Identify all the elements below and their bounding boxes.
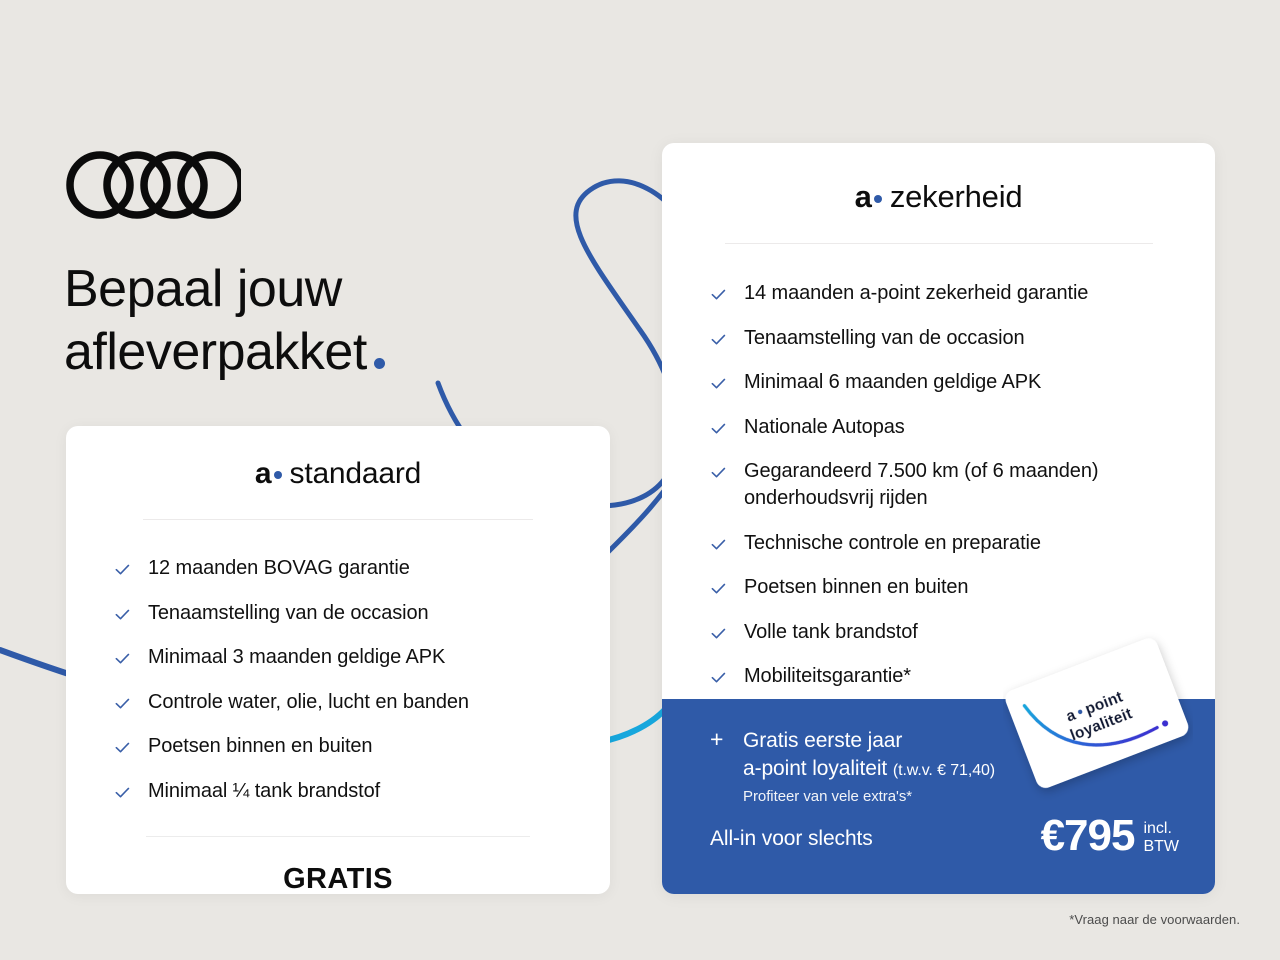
headline-line-1: Bepaal jouw — [64, 258, 584, 321]
bonus-line-2: a-point loyaliteit (t.w.v. € 71,40) — [743, 755, 1040, 783]
card-title-standaard: astandaard — [66, 426, 610, 491]
headline-dot-icon — [374, 358, 385, 369]
list-item-label: Tenaamstelling van de occasion — [148, 600, 429, 627]
check-icon — [114, 606, 131, 623]
check-icon — [710, 625, 727, 642]
list-item: Technische controle en preparatie — [710, 530, 1215, 557]
brand-dot-icon — [274, 471, 282, 479]
audi-rings-logo — [66, 150, 241, 220]
list-item: Minimaal 6 maanden geldige APK — [710, 369, 1215, 396]
bonus-block: + Gratis eerste jaar a-point loyaliteit … — [710, 727, 1040, 808]
list-item-label: Poetsen binnen en buiten — [148, 733, 372, 760]
list-item-label: Controle water, olie, lucht en banden — [148, 689, 469, 716]
card-divider-standaard — [143, 519, 533, 520]
check-icon — [114, 561, 131, 578]
list-item-label: Gegarandeerd 7.500 km (of 6 maanden) ond… — [744, 458, 1140, 511]
brand-letter-a: a — [855, 179, 872, 214]
check-icon — [710, 331, 727, 348]
list-item-label: Poetsen binnen en buiten — [744, 574, 968, 601]
bonus-line-2-main: a-point loyaliteit — [743, 757, 887, 780]
package-card-standaard[interactable]: astandaard 12 maanden BOVAG garantie Ten… — [66, 426, 610, 894]
bonus-lines: Gratis eerste jaar a-point loyaliteit (t… — [743, 727, 1040, 808]
check-icon — [114, 695, 131, 712]
price-row: All-in voor slechts €795 incl. BTW — [710, 814, 1179, 858]
list-item: Controle water, olie, lucht en banden — [114, 689, 610, 716]
card-title-zekerheid: azekerheid — [662, 143, 1215, 215]
poster-canvas: Bepaal jouw afleverpakket astandaard 12 … — [0, 0, 1280, 960]
price-vat-line-2: BTW — [1143, 838, 1179, 856]
package-card-zekerheid[interactable]: azekerheid 14 maanden a-point zekerheid … — [662, 143, 1215, 894]
plus-icon: + — [710, 728, 723, 751]
page-title: Bepaal jouw afleverpakket — [64, 258, 584, 385]
list-item-label: Volle tank brandstof — [744, 619, 918, 646]
list-item-label: Mobiliteitsgarantie* — [744, 663, 911, 690]
check-icon — [710, 464, 727, 481]
check-icon — [710, 669, 727, 686]
check-icon — [710, 580, 727, 597]
list-item-label: Nationale Autopas — [744, 414, 905, 441]
list-item: Gegarandeerd 7.500 km (of 6 maanden) ond… — [710, 458, 1140, 511]
bonus-line-1: Gratis eerste jaar — [743, 727, 1040, 755]
price-vat-line-1: incl. — [1143, 820, 1179, 838]
list-item-label: Tenaamstelling van de occasion — [744, 325, 1025, 352]
list-item: Mobiliteitsgarantie* — [710, 663, 1215, 690]
check-icon — [114, 739, 131, 756]
card-bottom-divider — [146, 836, 530, 837]
price-group: €795 incl. BTW — [1041, 814, 1179, 858]
brand-dot-icon — [874, 195, 882, 203]
headline-line-2-wrap: afleverpakket — [64, 321, 584, 384]
list-item-label: 12 maanden BOVAG garantie — [148, 555, 410, 582]
price-vat-note: incl. BTW — [1143, 820, 1179, 858]
feature-list-zekerheid: 14 maanden a-point zekerheid garantie Te… — [710, 280, 1215, 690]
list-item: 12 maanden BOVAG garantie — [114, 555, 610, 582]
bonus-line-3: Profiteer van vele extra's* — [743, 786, 1040, 809]
list-item: Nationale Autopas — [710, 414, 1215, 441]
list-item: Minimaal 3 maanden geldige APK — [114, 644, 610, 671]
price-footer-zekerheid: + Gratis eerste jaar a-point loyaliteit … — [662, 699, 1215, 894]
list-item: Tenaamstelling van de occasion — [114, 600, 610, 627]
footnote: *Vraag naar de voorwaarden. — [1069, 912, 1240, 927]
list-item: 14 maanden a-point zekerheid garantie — [710, 280, 1215, 307]
curve-cyan — [600, 706, 668, 742]
brand-letter-a: a — [255, 457, 272, 490]
bonus-line-2-value: (t.w.v. € 71,40) — [893, 762, 995, 779]
list-item-label: Technische controle en preparatie — [744, 530, 1041, 557]
card-divider-zekerheid — [725, 243, 1153, 244]
check-icon — [710, 286, 727, 303]
list-item-label: 14 maanden a-point zekerheid garantie — [744, 280, 1088, 307]
feature-list-standaard: 12 maanden BOVAG garantie Tenaamstelling… — [114, 555, 610, 805]
check-icon — [710, 375, 727, 392]
list-item: Poetsen binnen en buiten — [710, 574, 1215, 601]
price-amount: €795 — [1041, 814, 1135, 858]
list-item: Minimaal ¼ tank brandstof — [114, 778, 610, 805]
check-icon — [710, 536, 727, 553]
list-item-label: Minimaal 6 maanden geldige APK — [744, 369, 1041, 396]
list-item: Poetsen binnen en buiten — [114, 733, 610, 760]
card-title-text: zekerheid — [890, 179, 1023, 214]
check-icon — [114, 650, 131, 667]
allin-label: All-in voor slechts — [710, 827, 873, 858]
list-item-label: Minimaal 3 maanden geldige APK — [148, 644, 445, 671]
headline-line-2: afleverpakket — [64, 323, 367, 381]
list-item: Tenaamstelling van de occasion — [710, 325, 1215, 352]
price-label-standaard: GRATIS — [66, 863, 610, 896]
check-icon — [114, 784, 131, 801]
card-title-text: standaard — [290, 457, 422, 490]
list-item-label: Minimaal ¼ tank brandstof — [148, 778, 380, 805]
list-item: Volle tank brandstof — [710, 619, 1215, 646]
check-icon — [710, 420, 727, 437]
